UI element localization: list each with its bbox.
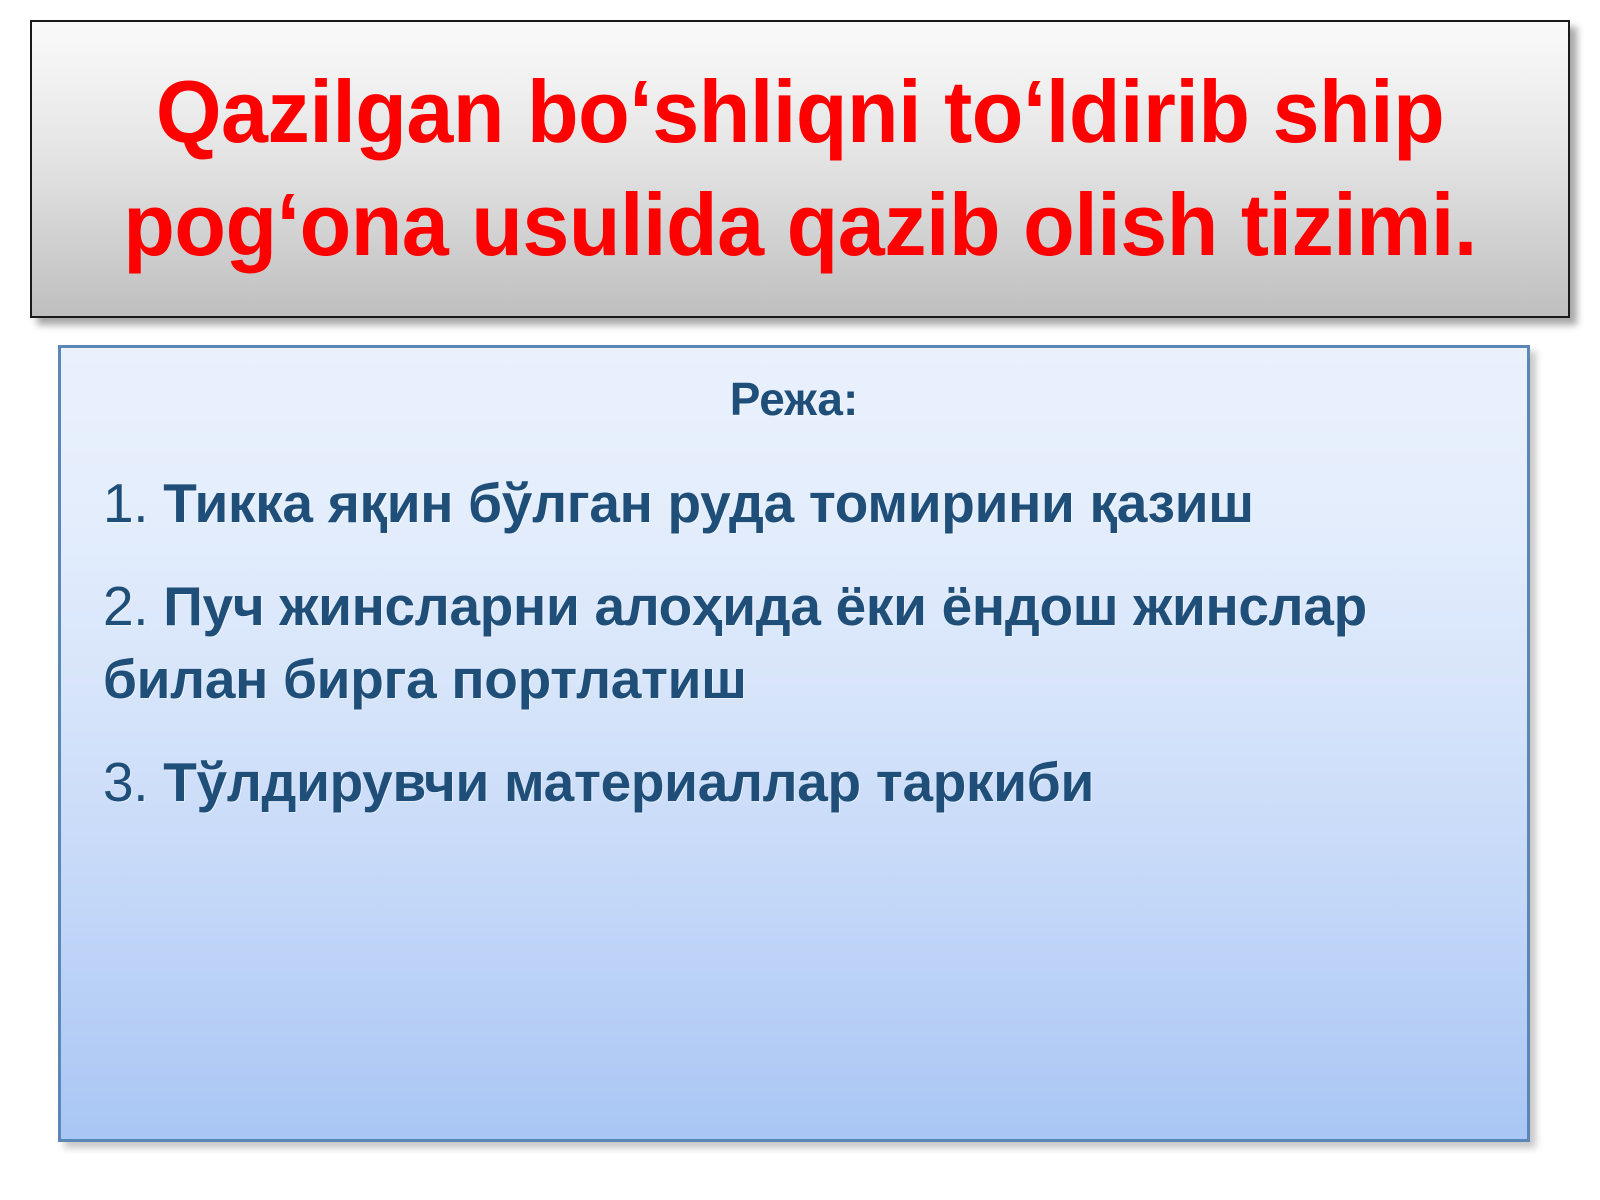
- content-panel: Режа: 1. Тикка яқин бўлган руда томирини…: [58, 345, 1530, 1142]
- list-item-number: 1.: [103, 472, 148, 534]
- page-title: Qazilgan boʻshliqni toʻldirib ship pogʻo…: [123, 56, 1477, 281]
- list-item: 2. Пуч жинсларни алоҳида ёки ёндош жинсл…: [85, 570, 1503, 716]
- slide-canvas: Qazilgan boʻshliqni toʻldirib ship pogʻo…: [0, 0, 1600, 1200]
- list-item: 3. Тўлдирувчи материаллар таркиби: [85, 746, 1503, 819]
- plan-heading: Режа:: [85, 374, 1503, 425]
- title-banner: Qazilgan boʻshliqni toʻldirib ship pogʻo…: [30, 20, 1570, 318]
- list-item-number: 2.: [103, 575, 148, 637]
- list-item-label: Тўлдирувчи материаллар таркиби: [148, 751, 1094, 813]
- list-item-label: Пуч жинсларни алоҳида ёки ёндош жинслар …: [103, 575, 1367, 710]
- plan-list: 1. Тикка яқин бўлган руда томирини қазиш…: [85, 467, 1503, 820]
- list-item: 1. Тикка яқин бўлган руда томирини қазиш: [85, 467, 1503, 540]
- list-item-number: 3.: [103, 751, 148, 813]
- list-item-label: Тикка яқин бўлган руда томирини қазиш: [148, 472, 1254, 534]
